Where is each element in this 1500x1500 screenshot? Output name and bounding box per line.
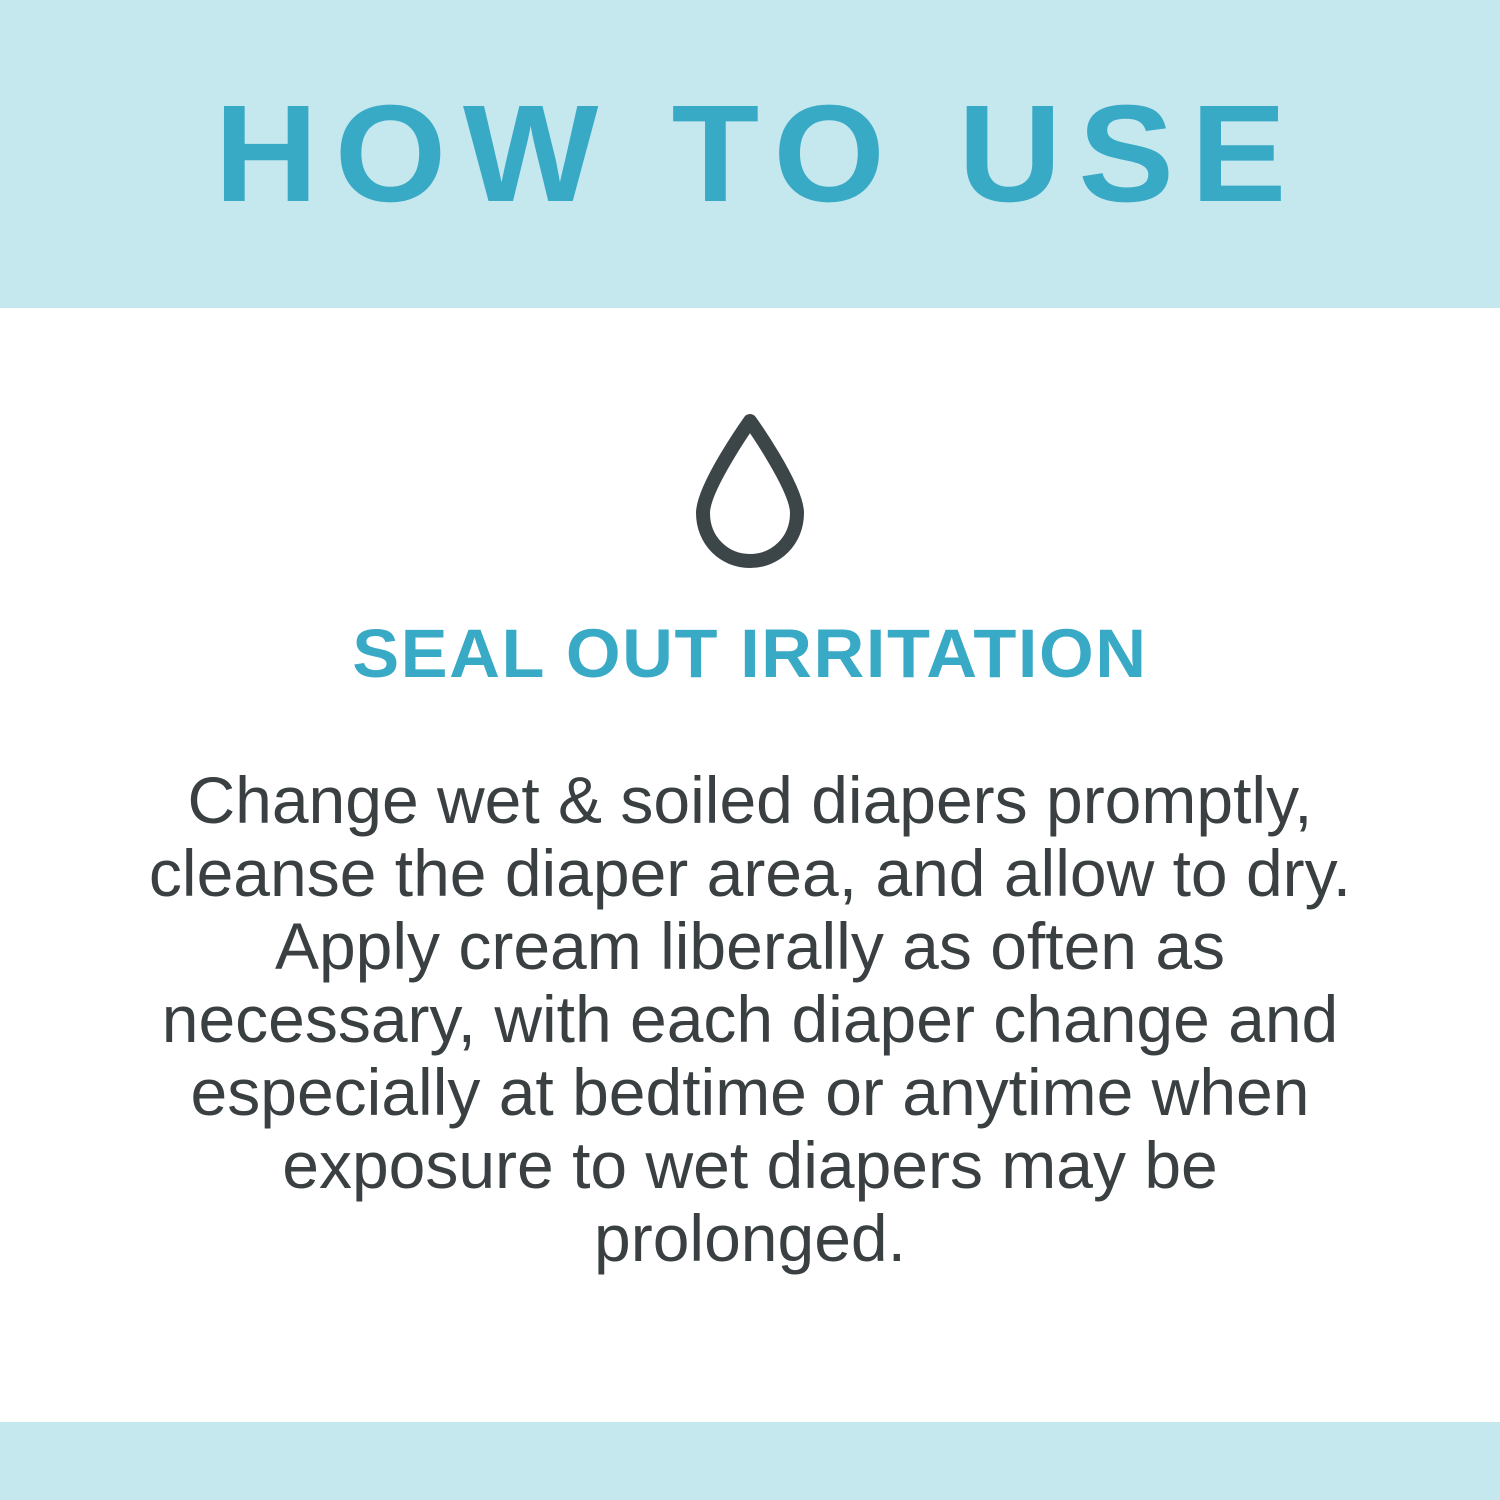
water-droplet-icon [689, 411, 811, 571]
section-heading: SEAL OUT IRRITATION [352, 619, 1147, 688]
bottom-banner [0, 1422, 1500, 1500]
page-title: HOW TO USE [197, 85, 1302, 223]
main-content: SEAL OUT IRRITATION Change wet & soiled … [0, 308, 1500, 1422]
top-banner: HOW TO USE [0, 0, 1500, 308]
how-to-use-panel: HOW TO USE SEAL OUT IRRITATION Change we… [0, 0, 1500, 1500]
instructions-text: Change wet & soiled diapers promptly, cl… [145, 764, 1355, 1275]
